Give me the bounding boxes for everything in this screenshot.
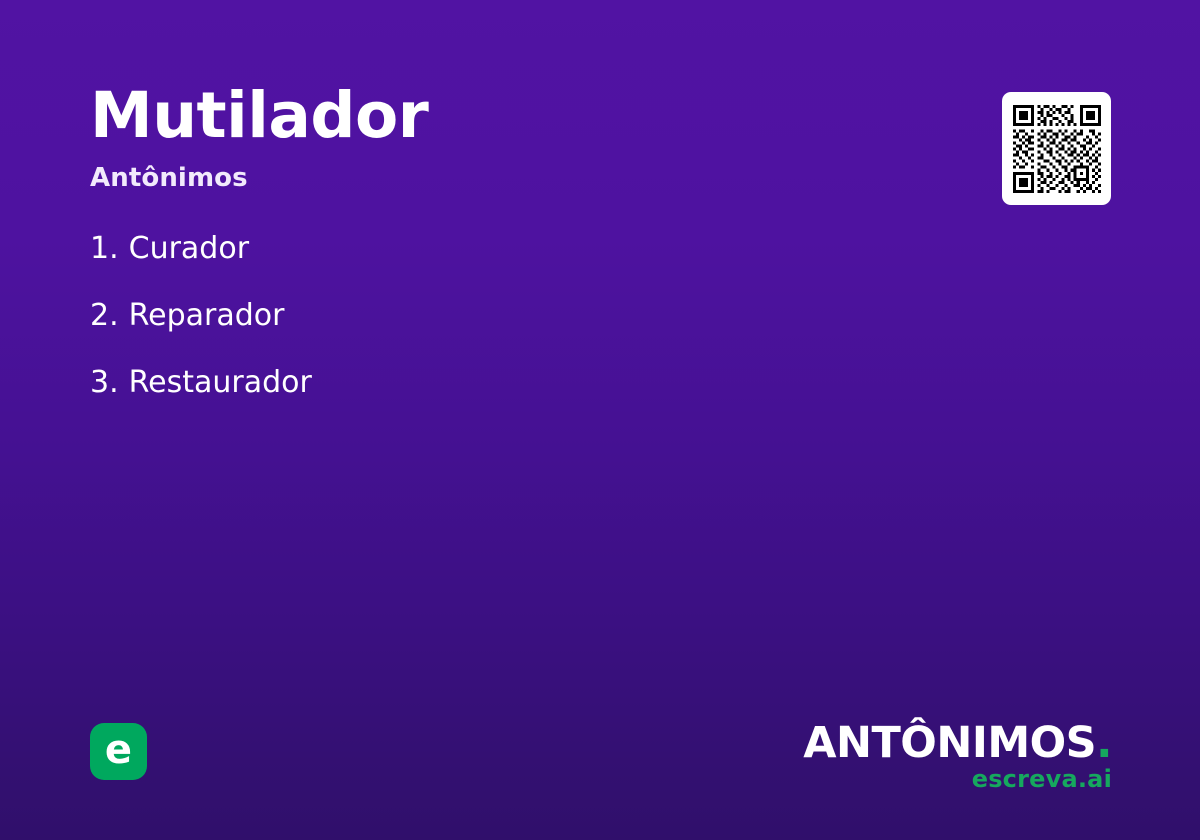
- brand-badge-letter: e: [105, 730, 132, 770]
- list-item-index: 1.: [90, 234, 119, 264]
- page-subtitle: Antônimos: [90, 163, 910, 193]
- antonyms-card: Mutilador Antônimos 1. Curador 2. Repara…: [0, 0, 1200, 840]
- escreva-e-badge-icon[interactable]: e: [90, 723, 147, 780]
- header: Mutilador Antônimos: [90, 84, 910, 193]
- list-item-index: 3.: [90, 368, 119, 398]
- footer-logo[interactable]: ANTÔNIMOS. escreva.ai: [803, 722, 1112, 791]
- list-item: 1. Curador: [90, 234, 910, 301]
- list-item-word: Reparador: [129, 301, 285, 331]
- page-title: Mutilador: [90, 84, 910, 147]
- footer-logo-title: ANTÔNIMOS.: [803, 722, 1112, 765]
- footer-logo-text: ANTÔNIMOS: [803, 718, 1096, 768]
- list-item-word: Curador: [129, 234, 249, 264]
- footer-logo-subtitle: escreva.ai: [803, 767, 1112, 791]
- list-item: 3. Restaurador: [90, 368, 910, 435]
- list-item: 2. Reparador: [90, 301, 910, 368]
- list-item-index: 2.: [90, 301, 119, 331]
- footer-logo-dot: .: [1096, 718, 1112, 768]
- qr-code-icon: [1013, 105, 1101, 193]
- antonyms-list: 1. Curador 2. Reparador 3. Restaurador: [90, 234, 910, 435]
- qr-code-card[interactable]: [1002, 92, 1111, 205]
- list-item-word: Restaurador: [129, 368, 312, 398]
